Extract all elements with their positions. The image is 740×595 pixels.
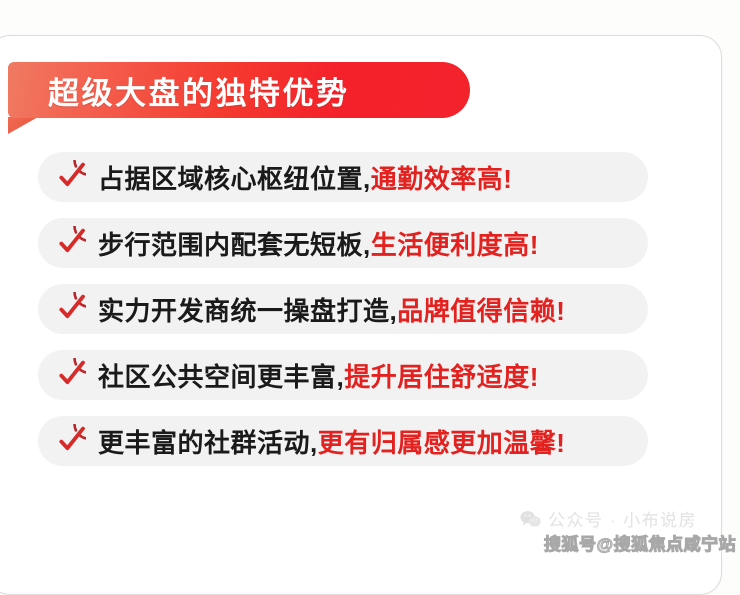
wechat-watermark-text: 公众号 · 小布说房 xyxy=(548,506,697,531)
list-item: 更丰富的社群活动,更有归属感更加温馨! xyxy=(38,416,710,466)
list-item-text-normal: 社区公共空间更丰富, xyxy=(98,362,344,392)
list-item-text: 实力开发商统一操盘打造,品牌值得信赖! xyxy=(98,291,565,328)
list-item-text-normal: 实力开发商统一操盘打造, xyxy=(98,296,397,326)
list-item-text-normal: 更丰富的社群活动, xyxy=(98,428,318,458)
list-item-text-highlight: 更有归属感更加温馨! xyxy=(318,428,566,458)
check-circle-icon xyxy=(52,424,86,458)
page-title: 超级大盘的独特优势 xyxy=(48,68,350,113)
wechat-icon xyxy=(520,510,541,528)
list-item-text: 更丰富的社群活动,更有归属感更加温馨! xyxy=(98,423,565,460)
sohu-watermark-text: 搜狐号@搜狐焦点咸宁站 xyxy=(544,530,736,555)
list-item-text: 占据区域核心枢纽位置,通勤效率高! xyxy=(98,159,512,196)
check-circle-icon xyxy=(52,358,86,392)
wechat-watermark: 公众号 · 小布说房 xyxy=(520,506,697,531)
ribbon-body: 超级大盘的独特优势 xyxy=(8,62,470,118)
list-item: 步行范围内配套无短板,生活便利度高! xyxy=(38,218,710,268)
check-circle-icon xyxy=(52,292,86,326)
list-item: 实力开发商统一操盘打造,品牌值得信赖! xyxy=(38,284,710,334)
title-ribbon: 超级大盘的独特优势 xyxy=(8,62,470,124)
list-item-text-highlight: 通勤效率高! xyxy=(371,164,513,194)
list-item-text-highlight: 提升居住舒适度! xyxy=(344,362,539,392)
list-item: 社区公共空间更丰富,提升居住舒适度! xyxy=(38,350,710,400)
list-item-text-highlight: 生活便利度高! xyxy=(371,230,539,260)
list-item-text-highlight: 品牌值得信赖! xyxy=(397,296,565,326)
list-item-text: 步行范围内配套无短板,生活便利度高! xyxy=(98,225,539,262)
list-item-text-normal: 步行范围内配套无短板, xyxy=(98,230,371,260)
check-circle-icon xyxy=(52,160,86,194)
check-circle-icon xyxy=(52,226,86,260)
advantages-list: 占据区域核心枢纽位置,通勤效率高! 步行范围内配套无短板,生活便利度高! 实力开… xyxy=(38,152,710,482)
list-item-text: 社区公共空间更丰富,提升居住舒适度! xyxy=(98,357,539,394)
list-item-text-normal: 占据区域核心枢纽位置, xyxy=(98,164,371,194)
list-item: 占据区域核心枢纽位置,通勤效率高! xyxy=(38,152,710,202)
